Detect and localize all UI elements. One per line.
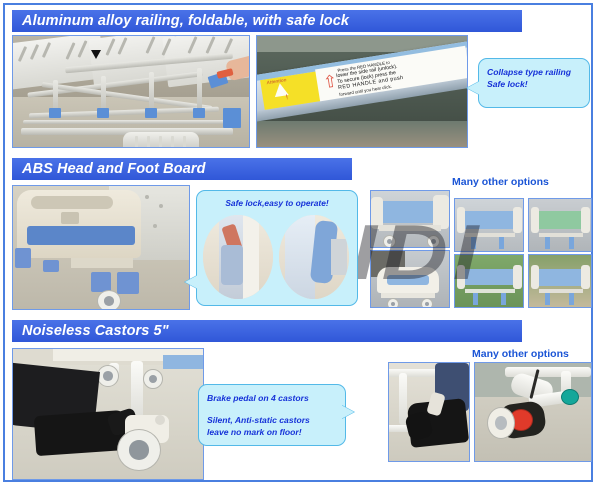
callout-tail	[185, 275, 198, 289]
product-detail-page: Aluminum alloy railing, foldable, with s…	[0, 0, 600, 501]
photo-boot-on-brake-pedal-under-bed	[388, 362, 470, 462]
photo-side-rail-blue-option-3	[528, 254, 592, 308]
photo-bed-with-blue-side-rail-front	[370, 190, 450, 248]
castor-wheel-main	[117, 429, 161, 471]
photo-abs-headboard-with-blue-panel	[12, 185, 190, 310]
label-many-other-options-boards: Many other options	[452, 176, 549, 188]
photo-foot-pressing-castor-brake-pedal	[12, 348, 204, 480]
photo-safe-lock-lever-closeup-right	[279, 215, 349, 299]
photo-side-rail-blue-option-1	[454, 198, 524, 252]
mouse-cursor-icon	[91, 50, 101, 59]
callout-collapse-type-railing: Collapse type railing Safe lock!	[478, 58, 590, 108]
photo-bed-headboard-white-blue	[370, 250, 450, 308]
photo-side-rail-blue-option-2	[454, 254, 524, 308]
callout-line: leave no mark on floor!	[207, 426, 337, 438]
photo-safe-lock-lever-closeup-left	[203, 215, 273, 299]
callout-tail	[467, 81, 480, 95]
photo-side-rail-green-option	[528, 198, 592, 252]
callout-line: Brake pedal on 4 castors	[207, 392, 337, 404]
photo-aluminum-railing-folded-on-bed-platform	[12, 35, 250, 148]
castor-wheel	[487, 407, 515, 439]
photo-side-rail-warning-label-closeup: ! Attention ⇧ Press the RED HANDLE to lo…	[256, 35, 468, 148]
callout-line: Silent, Anti-static castors	[207, 414, 337, 426]
callout-line: Safe lock,easy to operate!	[203, 197, 351, 209]
headboard-blue-panel	[27, 226, 135, 245]
aluminum-rail-bar	[23, 120, 229, 124]
callout-line: Safe lock!	[487, 78, 581, 90]
label-many-other-options-castors: Many other options	[472, 348, 569, 360]
callout-brake-pedal: Brake pedal on 4 castors Silent, Anti-st…	[198, 384, 346, 446]
castor-wheel	[97, 290, 121, 310]
castor-wheel	[143, 369, 163, 389]
callout-line: Collapse type railing	[487, 66, 581, 78]
section-title-boards: ABS Head and Foot Board	[12, 158, 352, 180]
headboard-emblem	[61, 212, 79, 224]
callout-safe-lock-easy-to-operate: Safe lock,easy to operate!	[196, 190, 358, 306]
section-title-railing: Aluminum alloy railing, foldable, with s…	[12, 10, 522, 32]
headboard-handle-slot	[31, 196, 113, 209]
lock-lever	[221, 245, 243, 285]
callout-tail	[341, 405, 354, 419]
brake-pedal-green	[561, 389, 579, 405]
castor-wheel	[97, 365, 119, 387]
section-title-castors: Noiseless Castors 5"	[12, 320, 522, 342]
photo-castor-with-red-and-green-pedals	[474, 362, 592, 462]
